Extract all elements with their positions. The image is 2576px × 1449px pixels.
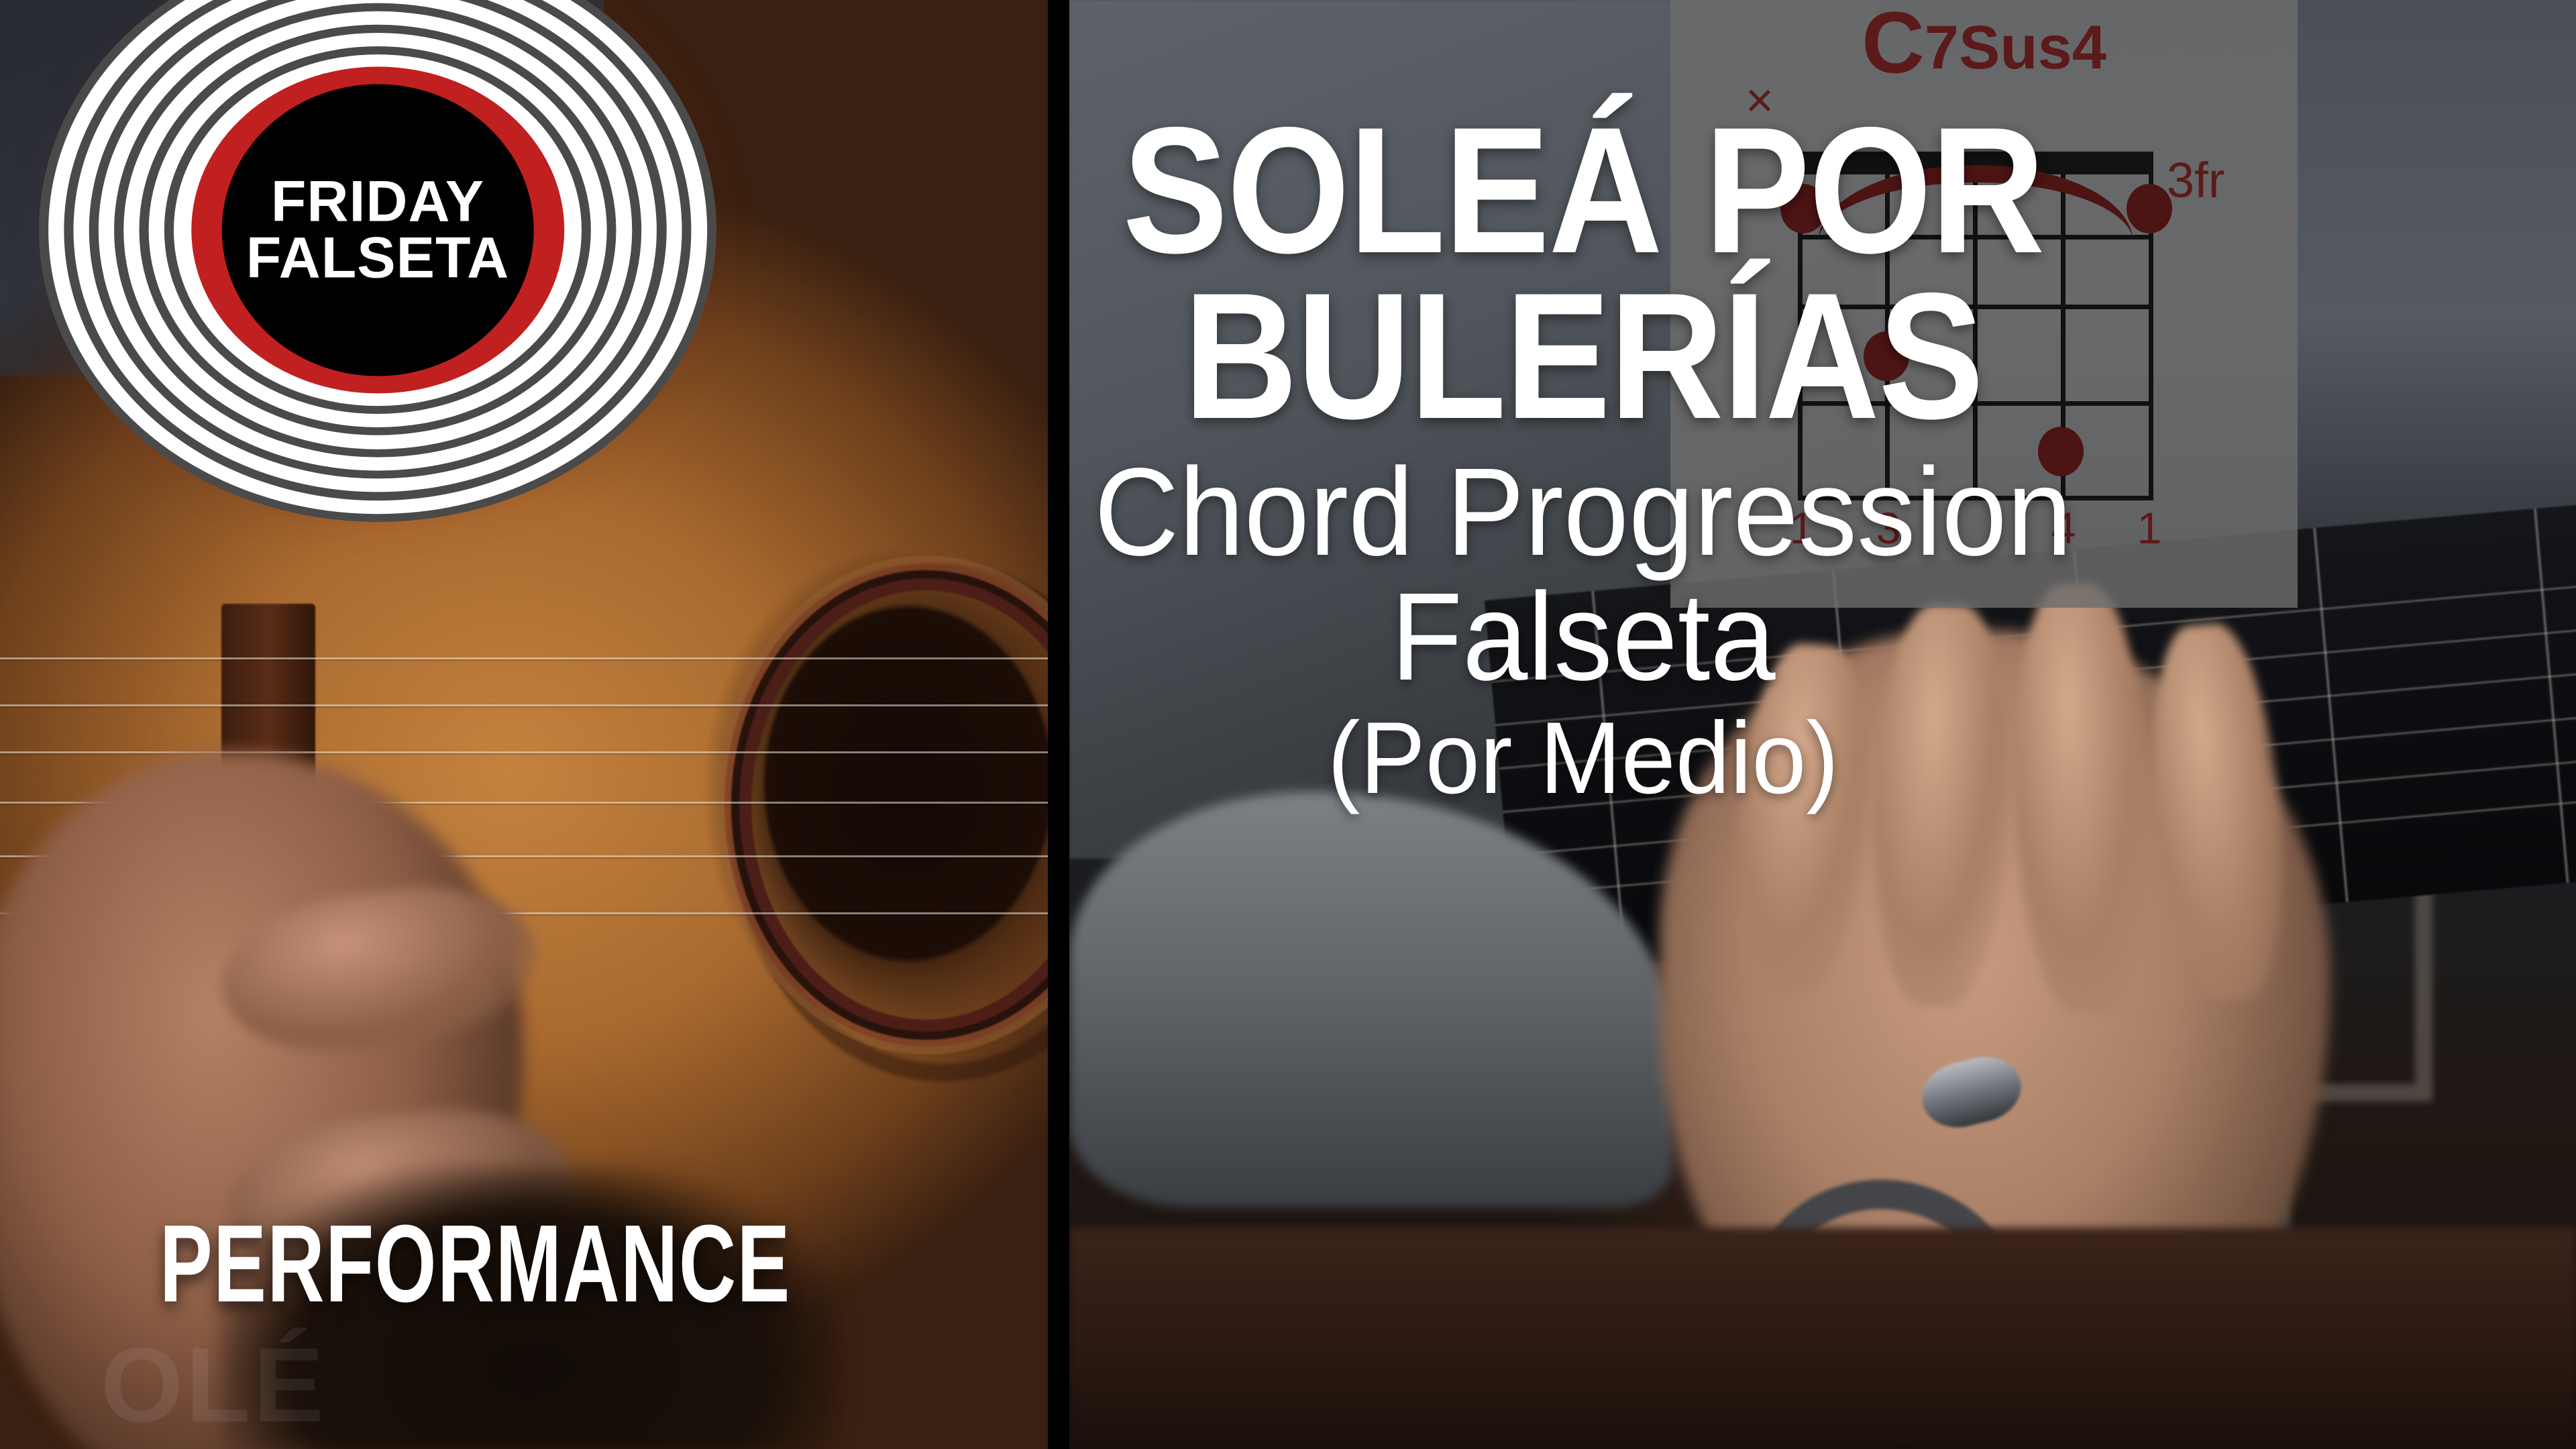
subtitle-line-1: Chord Progression — [934, 450, 2233, 575]
subtitle-parenthetical: (Por Medio) — [920, 705, 2247, 812]
chord-extension: 7Sus4 — [1925, 13, 2106, 82]
thumbnail-canvas: FRIDAY FALSETA C7Sus4 × 3fr 1 — [0, 0, 2576, 1449]
logo-line-2: FALSETA — [39, 230, 716, 286]
subtitle-line-2: Falseta — [934, 575, 2233, 700]
logo-line-1: FRIDAY — [39, 174, 716, 230]
friday-falseta-logo[interactable]: FRIDAY FALSETA — [39, 0, 716, 522]
title-main-line-2: BULERÍAS — [975, 273, 2192, 439]
title-block: SOLEÁ POR BULERÍAS Chord Progression Fal… — [892, 107, 2274, 812]
title-main-line-1: SOLEÁ POR — [975, 107, 2192, 273]
background-floor — [1069, 1228, 2576, 1449]
ole-watermark: OLÉ — [101, 1325, 327, 1446]
chord-root: C — [1862, 0, 1925, 91]
performance-label: PERFORMANCE — [160, 1201, 791, 1327]
logo-wordmark: FRIDAY FALSETA — [39, 174, 716, 287]
